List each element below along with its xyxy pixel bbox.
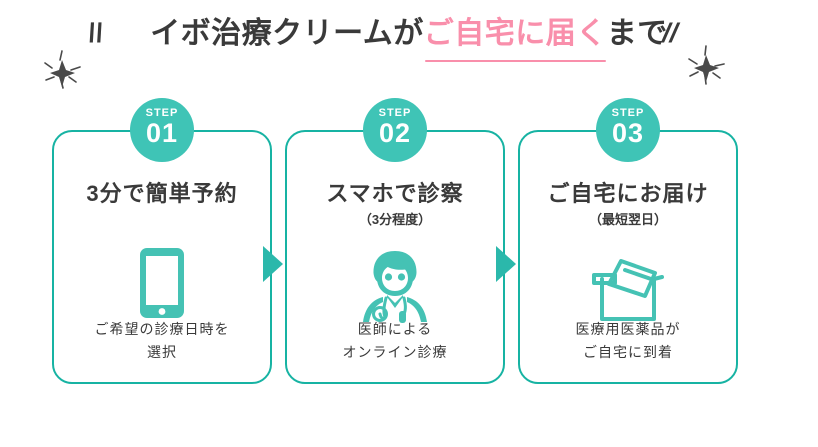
step-badge-number: 03 bbox=[596, 119, 660, 148]
steps-container: 3分で簡単予約 ご希望の診療日時を 選択 STEP 01 スマホで診察 （3分程… bbox=[52, 98, 766, 388]
step-subtitle: （3分程度） bbox=[287, 212, 503, 228]
step-caption-line1: 医師による bbox=[287, 318, 503, 341]
page-title-accent: ご自宅に届く bbox=[424, 12, 607, 56]
step-badge-number: 02 bbox=[363, 119, 427, 148]
page-title-prefix: イボ治療クリームが bbox=[150, 17, 424, 50]
sparkle-icon bbox=[680, 42, 732, 88]
step-title: スマホで診察 bbox=[287, 180, 503, 208]
step-card-03[interactable]: ご自宅にお届け （最短翌日） 医療用医薬品が ご自宅に bbox=[518, 130, 738, 384]
step-caption-line1: 医療用医薬品が bbox=[520, 318, 736, 341]
step-caption: 医師による オンライン診療 bbox=[287, 318, 503, 364]
step-caption-line2: ご自宅に到着 bbox=[520, 341, 736, 364]
page-title-suffix: まで bbox=[607, 17, 668, 50]
arrow-right-icon bbox=[263, 246, 283, 282]
arrow-right-icon bbox=[496, 246, 516, 282]
step-badge-02: STEP 02 bbox=[363, 98, 427, 162]
step-card-01[interactable]: 3分で簡単予約 ご希望の診療日時を 選択 bbox=[52, 130, 272, 384]
step-badge-number: 01 bbox=[130, 119, 194, 148]
step-caption: ご希望の診療日時を 選択 bbox=[54, 318, 270, 364]
heading-area: \\ // イボ治療クリームがご自宅に届くまで bbox=[0, 0, 818, 95]
step-caption-line2: 選択 bbox=[54, 341, 270, 364]
sparkle-icon bbox=[36, 47, 88, 93]
step-card-02[interactable]: スマホで診察 （3分程度） bbox=[285, 130, 505, 384]
step-caption-line1: ご希望の診療日時を bbox=[54, 318, 270, 341]
step-badge-01: STEP 01 bbox=[130, 98, 194, 162]
step-caption-line2: オンライン診療 bbox=[287, 341, 503, 364]
step-title: ご自宅にお届け bbox=[520, 180, 736, 208]
step-subtitle: （最短翌日） bbox=[520, 212, 736, 228]
smartphone-icon bbox=[54, 240, 270, 326]
step-badge-03: STEP 03 bbox=[596, 98, 660, 162]
step-caption: 医療用医薬品が ご自宅に到着 bbox=[520, 318, 736, 364]
step-title: 3分で簡単予約 bbox=[54, 180, 270, 208]
